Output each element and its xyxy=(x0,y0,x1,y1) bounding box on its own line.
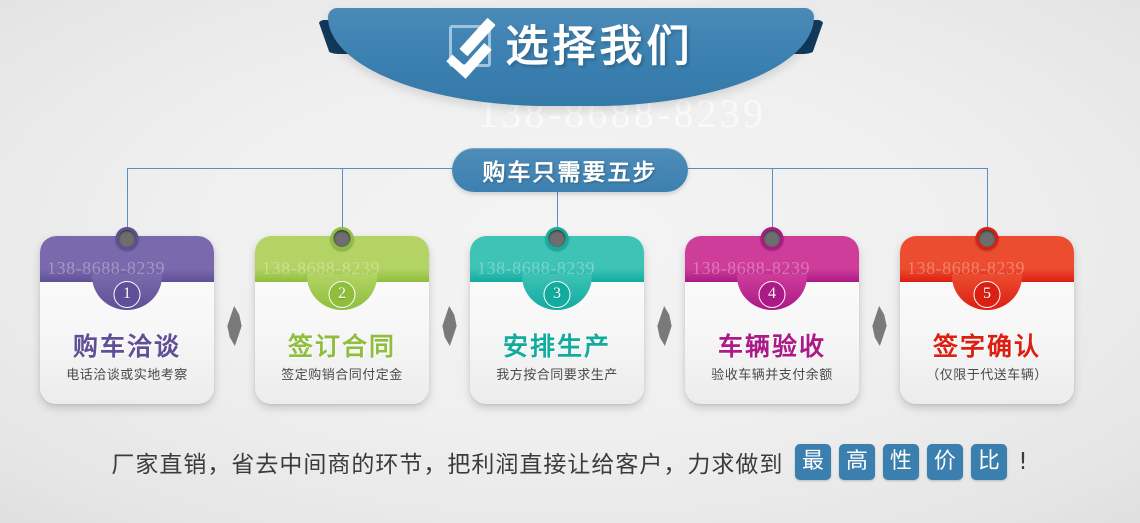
step-subtitle: 电话洽谈或实地考察 xyxy=(40,364,214,383)
step-title: 安排生产 xyxy=(470,327,644,363)
arrow-4-icon xyxy=(871,306,888,346)
footer-suffix: ! xyxy=(1018,449,1028,475)
grommet-hole-icon xyxy=(979,230,996,247)
step-card-2[interactable]: 138-8688-82392签订合同签定购销合同付定金 xyxy=(255,236,429,404)
step-title: 签字确认 xyxy=(900,327,1074,363)
footer-highlight-char-5: 比 xyxy=(971,444,1007,480)
step-title: 签订合同 xyxy=(255,327,429,363)
step-subtitle: 验收车辆并支付余额 xyxy=(685,364,859,383)
banner-body: 选择我们 xyxy=(328,8,814,106)
arrow-2-icon xyxy=(441,306,458,346)
step-title: 购车洽谈 xyxy=(40,327,214,363)
header-banner: 选择我们 xyxy=(318,8,824,112)
step-card-3[interactable]: 138-8688-82393安排生产我方按合同要求生产 xyxy=(470,236,644,404)
step-number-badge: 1 xyxy=(114,281,141,308)
subtitle-pill-title: 购车只需要五步 xyxy=(483,153,658,187)
step-card-5[interactable]: 138-8688-82395签字确认（仅限于代送车辆） xyxy=(900,236,1074,404)
arrow-3-icon xyxy=(656,306,673,346)
grommet-hole-icon xyxy=(549,230,566,247)
subtitle-pill: 购车只需要五步 xyxy=(452,148,688,192)
grommet-hole-icon xyxy=(334,230,351,247)
footer-highlight-char-2: 高 xyxy=(839,444,875,480)
grommet-hole-icon xyxy=(119,230,136,247)
banner-title: 选择我们 xyxy=(506,21,694,73)
footer-caption: 厂家直销，省去中间商的环节，把利润直接让给客户，力求做到 最高性价比 ! xyxy=(0,444,1140,480)
footer-highlight-char-3: 性 xyxy=(883,444,919,480)
step-number-badge: 5 xyxy=(974,281,1001,308)
step-card-1[interactable]: 138-8688-82391购车洽谈电话洽谈或实地考察 xyxy=(40,236,214,404)
footer-prefix: 厂家直销，省去中间商的环节，把利润直接让给客户，力求做到 xyxy=(111,445,783,479)
step-subtitle: 签定购销合同付定金 xyxy=(255,364,429,383)
footer-highlight-char-4: 价 xyxy=(927,444,963,480)
step-subtitle: 我方按合同要求生产 xyxy=(470,364,644,383)
checkbox-checked-icon xyxy=(449,25,491,67)
step-number-badge: 3 xyxy=(544,281,571,308)
footer-highlight-group: 最高性价比 xyxy=(791,444,1011,480)
footer-highlight-char-1: 最 xyxy=(795,444,831,480)
step-card-4[interactable]: 138-8688-82394车辆验收验收车辆并支付余额 xyxy=(685,236,859,404)
step-number-badge: 2 xyxy=(329,281,356,308)
step-title: 车辆验收 xyxy=(685,327,859,363)
step-number-badge: 4 xyxy=(759,281,786,308)
grommet-hole-icon xyxy=(764,230,781,247)
step-subtitle: （仅限于代送车辆） xyxy=(900,364,1074,383)
arrow-1-icon xyxy=(226,306,243,346)
